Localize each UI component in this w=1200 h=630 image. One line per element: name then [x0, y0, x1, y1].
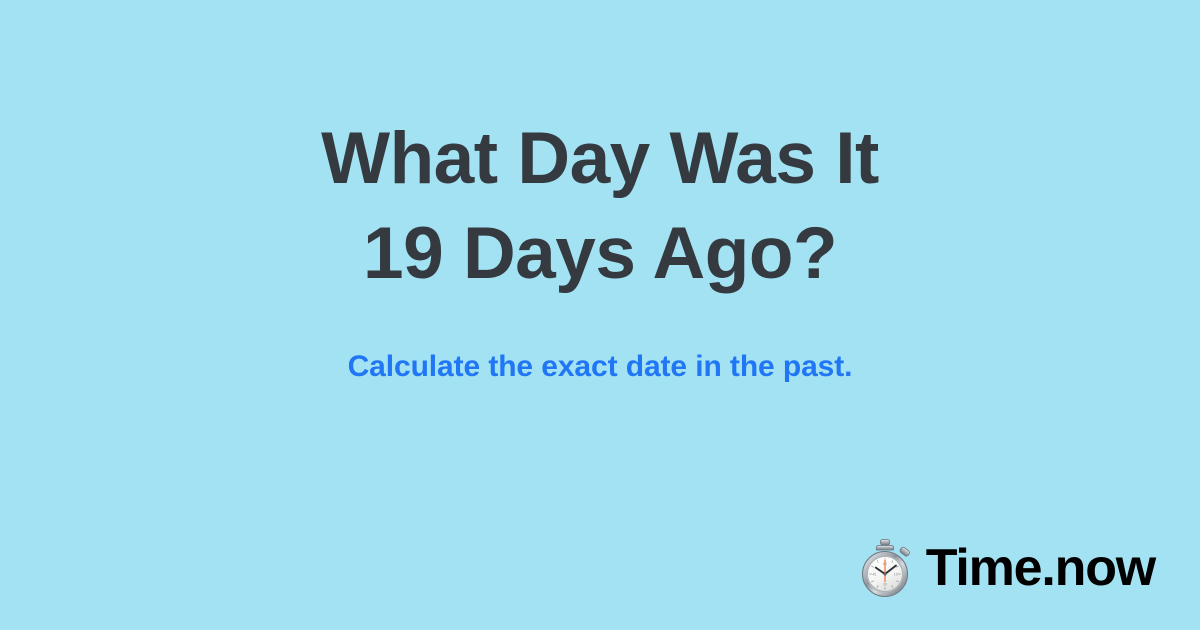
page-title-line-1: What Day Was It	[321, 111, 879, 206]
page-title: What Day Was It 19 Days Ago?	[321, 111, 879, 301]
page-subtitle: Calculate the exact date in the past.	[348, 301, 853, 385]
svg-text:15: 15	[894, 572, 898, 576]
hero-section: What Day Was It 19 Days Ago? Calculate t…	[0, 0, 1200, 470]
svg-text:30: 30	[883, 583, 887, 587]
brand-name: Time.now	[926, 540, 1155, 596]
brand-lockup: 60 15 30 45 Time.now	[856, 538, 1155, 598]
og-card: What Day Was It 19 Days Ago? Calculate t…	[0, 0, 1200, 630]
svg-text:45: 45	[872, 572, 876, 576]
stopwatch-icon: 60 15 30 45	[856, 538, 914, 598]
page-title-line-2: 19 Days Ago?	[321, 206, 879, 301]
